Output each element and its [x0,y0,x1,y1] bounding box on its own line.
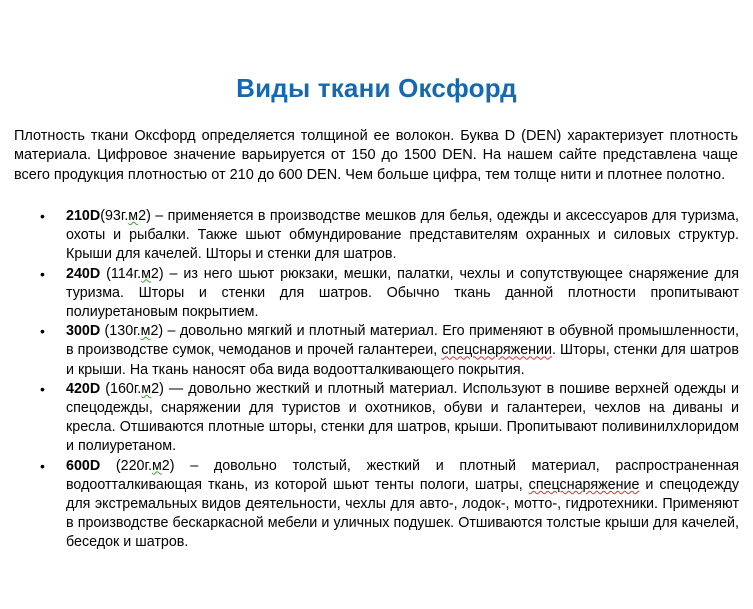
dash-separator: — [164,381,188,397]
weight-value-suffix: 2) [151,381,164,397]
bullet-marker-icon: • [40,380,50,399]
grammar-flagged-text: м [141,323,151,339]
list-item: •300D (130г.м2) – довольно мягкий и плот… [0,322,753,380]
dash-separator: – [164,266,184,282]
grammar-flagged-text: м [152,458,162,474]
weight-value-prefix: (130г. [100,323,140,339]
page-title: Виды ткани Оксфорд [0,73,753,103]
weight-value-suffix: 2) [162,458,175,474]
intro-paragraph: Плотность ткани Оксфорд определяется тол… [14,127,738,186]
weight-value-prefix: (160г. [100,381,141,397]
density-label: 420D [66,381,100,397]
list-item: •600D (220г.м2) – довольно толстый, жест… [0,457,753,553]
dash-separator: – [163,323,180,339]
weight-value-suffix: 2) [150,323,163,339]
weight-value-prefix: (93г. [100,208,128,224]
bullet-marker-icon: • [40,322,50,341]
list-item: •240D (114г.м2) – из него шьют рюкзаки, … [0,265,753,323]
list-item: •210D(93г.м2) – применяется в производст… [0,207,753,265]
weight-value-suffix: 2) [138,208,151,224]
bullet-marker-icon: • [40,265,50,284]
density-label: 300D [66,323,100,339]
density-label: 210D [66,208,100,224]
dash-separator: – [151,208,168,224]
weight-value-prefix: (114г. [100,266,141,282]
bullet-marker-icon: • [40,207,50,226]
density-label: 600D [66,458,100,474]
spelling-flagged-word: спецснаряжение [529,477,640,493]
density-label: 240D [66,266,100,282]
spelling-flagged-word: спецснаряжении [441,342,552,358]
weight-value-suffix: 2) [151,266,164,282]
dash-separator: – [175,458,214,474]
item-description: применяется в производстве мешков для бе… [66,208,739,262]
document-page: Виды ткани Оксфорд Плотность ткани Оксфо… [0,0,753,609]
grammar-flagged-text: м [128,208,138,224]
bullet-marker-icon: • [40,457,50,476]
weight-value-prefix: (220г. [100,458,152,474]
density-list: •210D(93г.м2) – применяется в производст… [0,207,753,553]
grammar-flagged-text: м [141,381,151,397]
list-item: •420D (160г.м2) — довольно жесткий и пло… [0,380,753,457]
grammar-flagged-text: м [141,266,151,282]
